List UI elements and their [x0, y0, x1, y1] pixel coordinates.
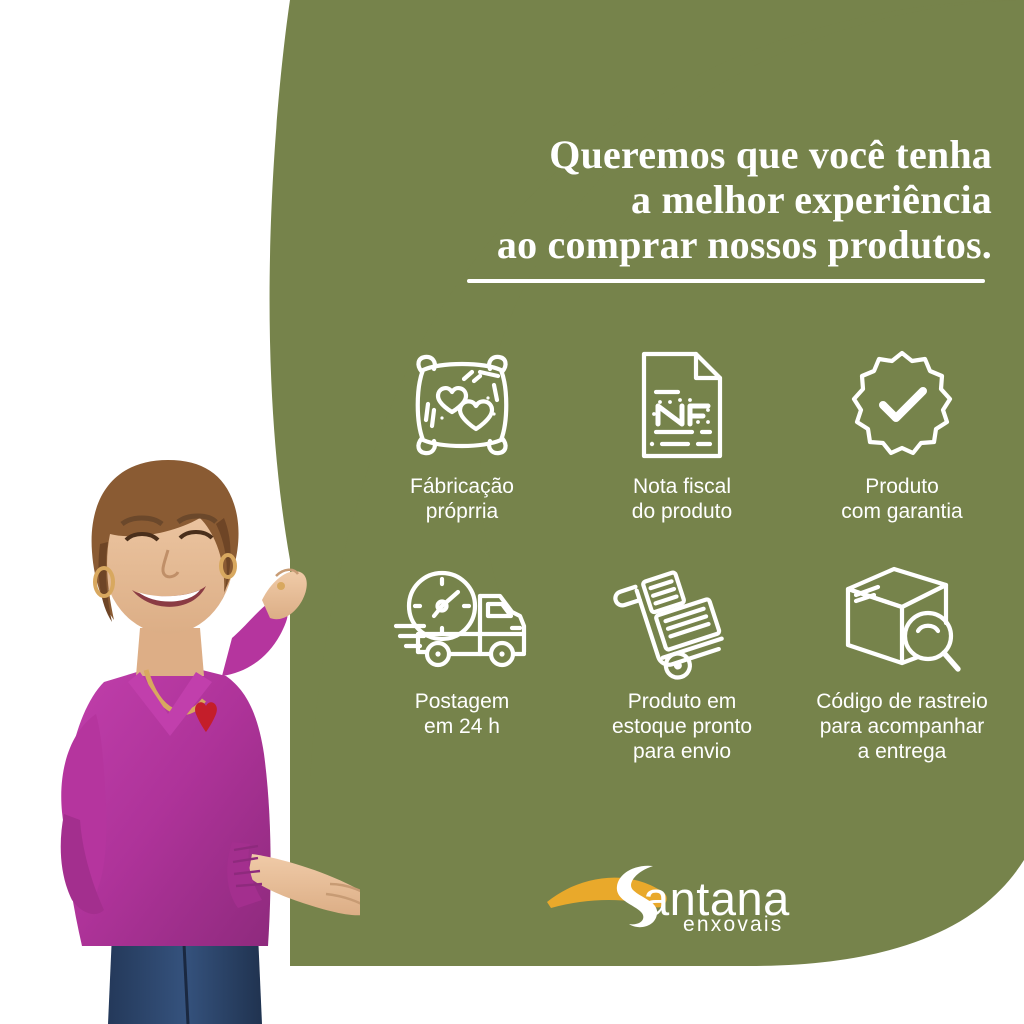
invoice-nf-icon: [616, 344, 748, 466]
feature-label: Produto em estoque pronto para envio: [612, 690, 752, 765]
ring: [277, 582, 285, 590]
clock-truck-icon: [396, 559, 528, 681]
feature-item: Produto com garantia: [792, 344, 1012, 525]
hand-grip: [262, 571, 307, 619]
headline-divider: [467, 279, 985, 283]
feature-item: Postagem em 24 h: [352, 559, 572, 765]
headline-line-2: a melhor experiência: [380, 177, 992, 222]
headline: Queremos que você tenha a melhor experiê…: [380, 132, 992, 268]
woman-photo: [0, 414, 360, 1024]
promotional-graphic: Queremos que você tenha a melhor experiê…: [0, 0, 1024, 1024]
pillow-icon: [396, 344, 528, 466]
feature-label: Fábricação próprria: [410, 475, 514, 525]
feature-item: Produto em estoque pronto para envio: [572, 559, 792, 765]
box-magnifier-icon: [836, 559, 968, 681]
feature-label: Postagem em 24 h: [415, 690, 510, 740]
headline-line-3: ao comprar nossos produtos.: [380, 222, 992, 267]
feature-label: Código de rastreio para acompanhar a ent…: [816, 690, 988, 765]
feature-item: Nota fiscal do produto: [572, 344, 792, 525]
brand-logo: antana enxovais: [545, 858, 800, 934]
logo-tagline-text: enxovais: [683, 913, 783, 934]
warranty-badge-check-icon: [836, 344, 968, 466]
feature-label: Produto com garantia: [841, 475, 962, 525]
features-grid: Fábricação próprria: [352, 344, 1012, 765]
headline-line-1: Queremos que você tenha: [380, 132, 992, 177]
feature-item: Código de rastreio para acompanhar a ent…: [792, 559, 1012, 765]
feature-item: Fábricação próprria: [352, 344, 572, 525]
neck: [136, 628, 204, 676]
feature-label: Nota fiscal do produto: [632, 475, 732, 525]
hand-truck-boxes-icon: [616, 559, 748, 681]
headline-text: Queremos que você tenha a melhor experiê…: [380, 132, 992, 268]
